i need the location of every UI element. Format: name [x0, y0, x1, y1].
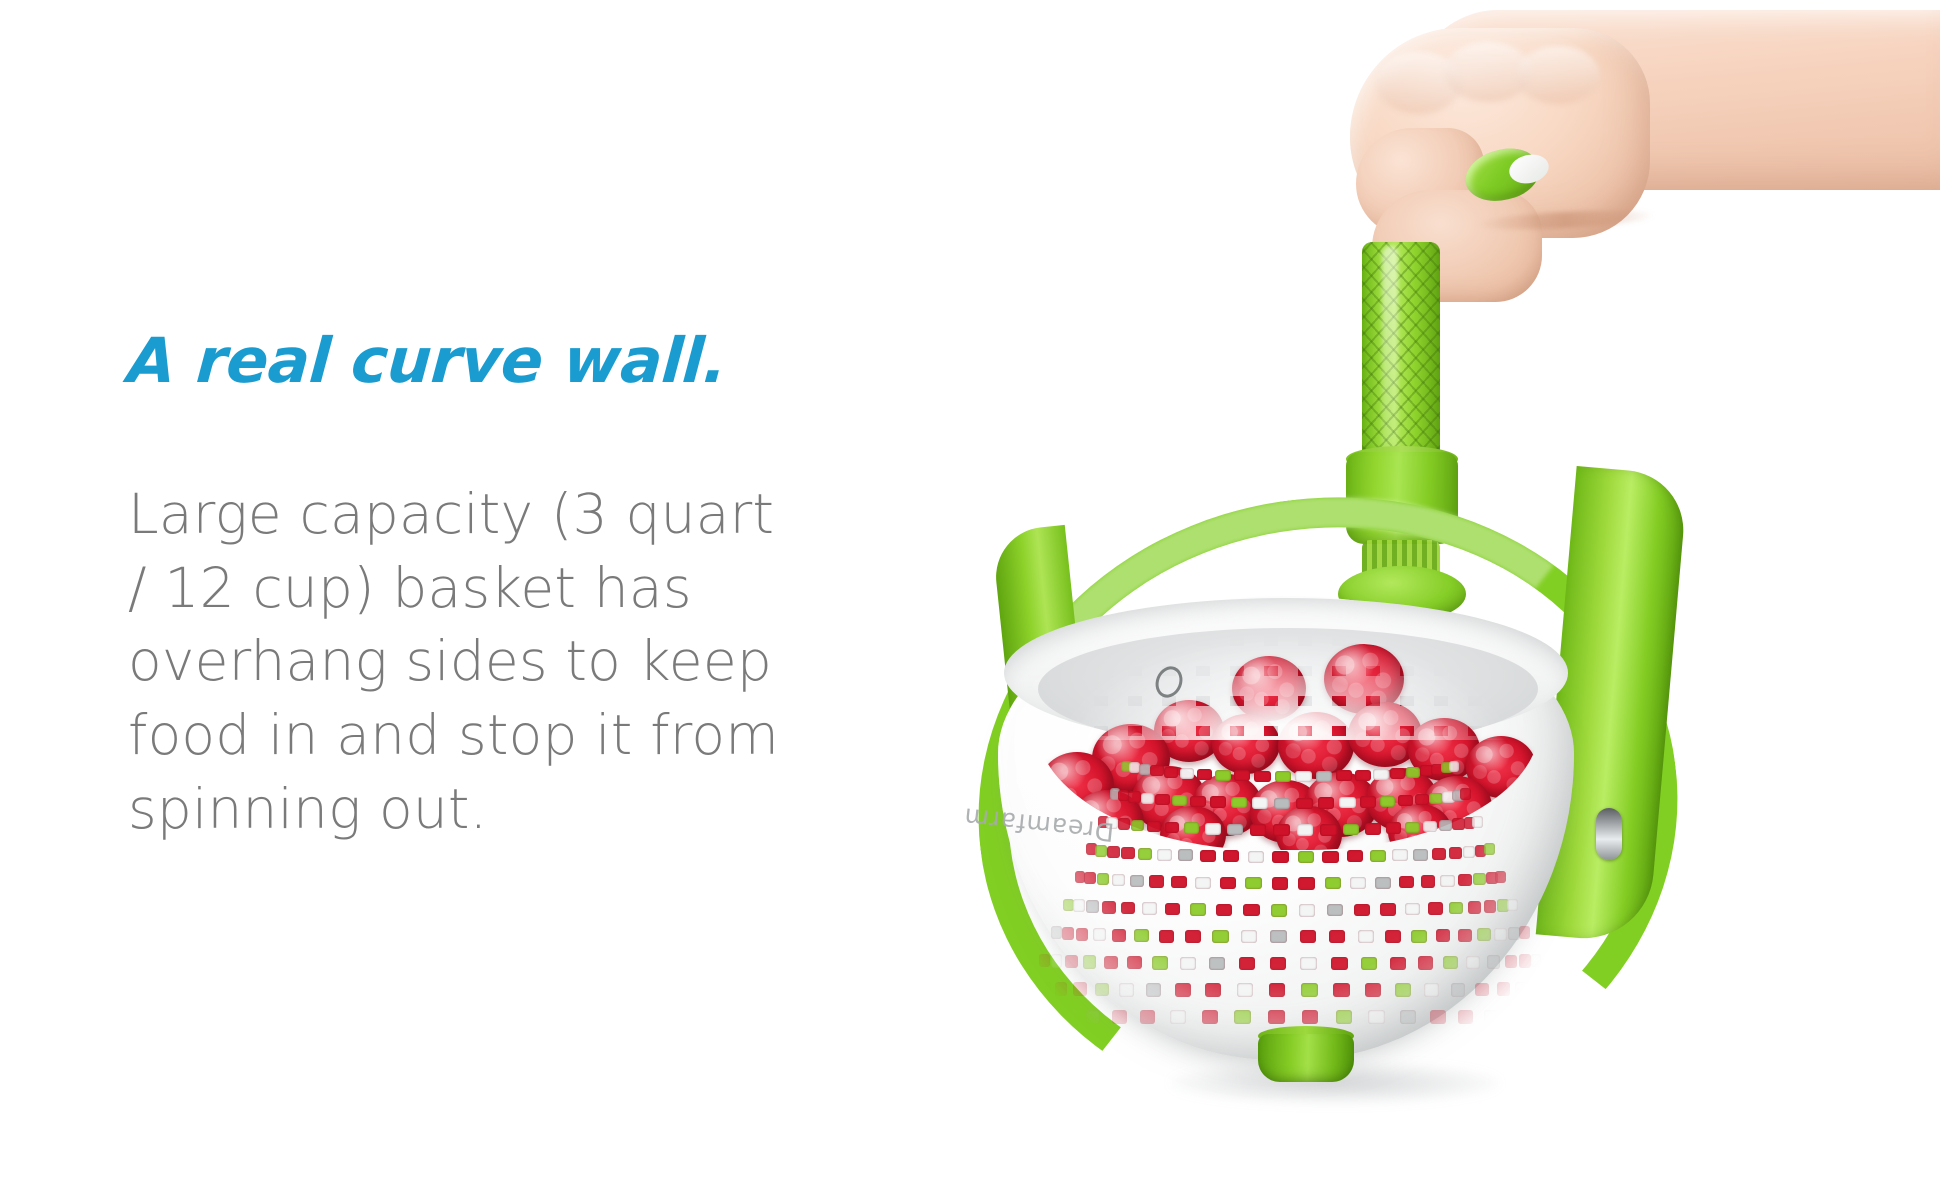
basket-hole	[1028, 1009, 1040, 1023]
description-line-1: Large capacity (3 quart	[128, 478, 888, 552]
handle-shaft	[1362, 242, 1440, 464]
base-foot	[1258, 1034, 1354, 1082]
description-line-2: / 12 cup) basket has	[128, 552, 888, 626]
basket-hole	[1044, 1009, 1057, 1023]
pivot-pin	[1596, 808, 1622, 860]
feature-description: Large capacity (3 quart / 12 cup) basket…	[128, 478, 888, 846]
product-photo: Dreamfarm	[1020, 0, 1940, 1200]
page-title: A real curve wall.	[126, 330, 910, 392]
knuckle	[1516, 46, 1600, 104]
raspberry	[1278, 712, 1354, 779]
text-column: A real curve wall. Large capacity (3 qua…	[128, 330, 908, 846]
description-line-4: food in and stop it from	[128, 699, 888, 773]
shaft-highlight	[1382, 246, 1398, 460]
product-feature-slide: A real curve wall. Large capacity (3 qua…	[0, 0, 1940, 1200]
description-line-5: spinning out.	[128, 773, 888, 847]
raspberry	[1212, 714, 1280, 774]
description-line-3: overhang sides to keep	[128, 625, 888, 699]
raspberry	[1232, 656, 1306, 721]
basket-hole	[1016, 1009, 1027, 1023]
